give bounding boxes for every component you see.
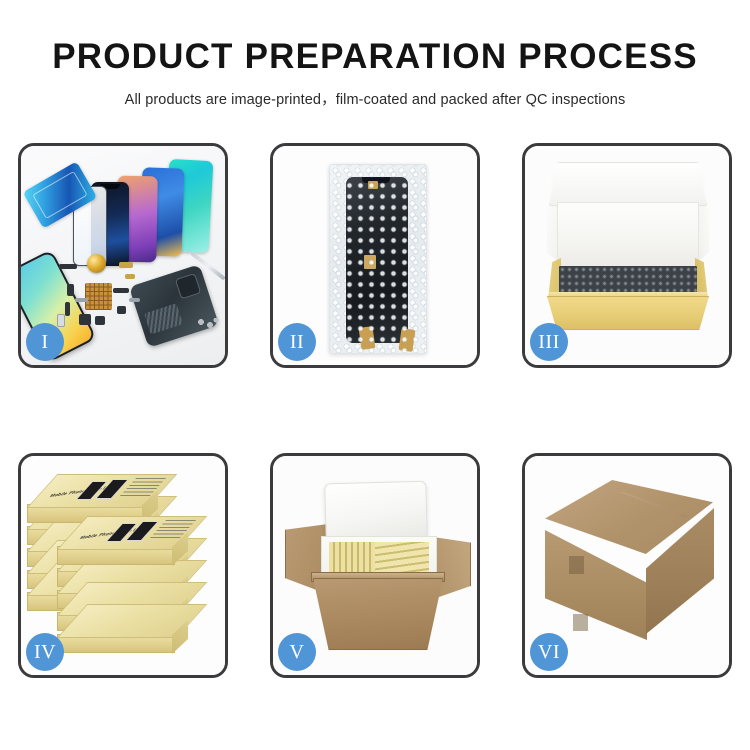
box-back-foam-icon xyxy=(557,202,699,270)
component-motor-icon xyxy=(95,316,105,325)
speaker-coil-icon xyxy=(87,254,106,273)
component-chip-icon xyxy=(59,264,77,269)
lcd-screen-icon xyxy=(346,177,408,343)
page-subtitle: All products are image-printed，film-coat… xyxy=(0,88,750,109)
component-strip-icon xyxy=(129,298,140,302)
component-small-icon xyxy=(67,284,74,296)
flex-cable-right-icon xyxy=(399,328,416,352)
component-antenna-icon xyxy=(113,288,129,293)
step-badge-6: VI xyxy=(530,633,568,671)
carton-tape-lower-icon xyxy=(573,614,588,631)
step-badge-4: IV xyxy=(26,633,64,671)
step-badge-1: I xyxy=(26,323,64,361)
component-gold-tab-icon xyxy=(125,274,135,279)
box-lid-icon xyxy=(549,162,707,206)
component-gold-flex-icon xyxy=(119,262,133,268)
page-title: PRODUCT PREPARATION PROCESS xyxy=(0,38,750,77)
foam-lid-icon xyxy=(324,481,427,542)
retail-box-front-1 xyxy=(57,634,175,653)
retail-box-front-top: Mobile Phone Spare Parts xyxy=(57,546,175,565)
back-housing-icon xyxy=(129,264,219,348)
step-panel-5: V xyxy=(270,453,480,678)
flex-cable-mid-icon xyxy=(364,255,376,269)
component-speaker-icon xyxy=(117,306,126,314)
box-front-panel-icon xyxy=(547,296,709,330)
carton-body-icon xyxy=(313,578,443,650)
process-steps-grid: I II xyxy=(18,143,732,678)
screws-icon xyxy=(197,318,219,328)
component-connector-icon xyxy=(65,302,70,316)
step-panel-2: II xyxy=(270,143,480,368)
contact-pad-grid-icon xyxy=(85,283,112,310)
flex-cable-left-icon xyxy=(359,326,376,350)
component-ribbon-icon xyxy=(75,298,88,302)
product-preparation-infographic: PRODUCT PREPARATION PROCESS All products… xyxy=(0,0,750,750)
bubble-wrap-bag-icon xyxy=(329,164,427,354)
step-panel-6: VI xyxy=(522,453,732,678)
component-camera-icon xyxy=(79,314,91,325)
step-panel-4: Mobile Phone Spare Parts Mobile xyxy=(18,453,228,678)
carton-tape-upper-icon xyxy=(569,556,584,574)
step-badge-5: V xyxy=(278,633,316,671)
step-panel-1: I xyxy=(18,143,228,368)
step-badge-3: III xyxy=(530,323,568,361)
step-badge-2: II xyxy=(278,323,316,361)
flex-cable-top-icon xyxy=(368,181,378,189)
component-lens-icon xyxy=(57,314,65,327)
step-panel-3: III xyxy=(522,143,732,368)
header: PRODUCT PREPARATION PROCESS All products… xyxy=(0,0,750,109)
